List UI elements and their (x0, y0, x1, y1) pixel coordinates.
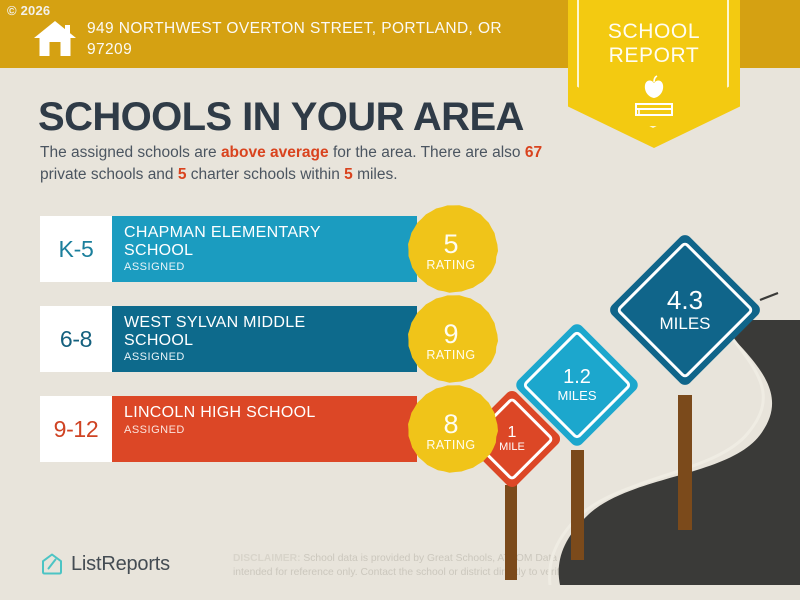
school-name-3: LINCOLN HIGH SCHOOL (124, 404, 359, 422)
subtitle-highlight-above-average: above average (221, 144, 329, 161)
subtitle-part1: The assigned schools are (40, 144, 221, 161)
school-name-1: CHAPMAN ELEMENTARY SCHOOL (124, 224, 359, 259)
school-bar-1: CHAPMAN ELEMENTARY SCHOOL ASSIGNED (112, 216, 417, 282)
apple-on-book-icon (626, 74, 682, 124)
school-row-chapman-elementary[interactable]: K-5 CHAPMAN ELEMENTARY SCHOOL ASSIGNED 5… (40, 216, 460, 282)
home-icon (32, 18, 78, 58)
grade-range-box-3: 9-12 (40, 396, 112, 462)
badge-title: SCHOOL REPORT (568, 20, 740, 68)
infographic-canvas: 4.3 MILES 1.2 MILES 1 MILE (0, 0, 800, 600)
school-bar-3: LINCOLN HIGH SCHOOL ASSIGNED (112, 396, 417, 462)
sign-value-2: 1.2 (563, 367, 591, 388)
subtitle-part3: private schools and (40, 166, 178, 183)
road-illustration: 4.3 MILES 1.2 MILES 1 MILE (460, 245, 800, 585)
rating-value-1: 5 (443, 231, 458, 257)
sign-post-2 (571, 450, 584, 560)
rating-value-2: 9 (443, 321, 458, 347)
sign-unit-1: MILE (499, 441, 525, 454)
school-row-lincoln-high[interactable]: 9-12 LINCOLN HIGH SCHOOL ASSIGNED 8 RATI… (40, 396, 460, 462)
sign-post-1 (505, 485, 517, 580)
badge-title-line2: REPORT (568, 44, 740, 68)
copyright-text: © 2026 (7, 3, 50, 18)
rating-value-3: 8 (443, 411, 458, 437)
listreports-logo-text: ListReports (71, 553, 170, 576)
sign-unit-2: MILES (557, 388, 596, 403)
subtitle-part5: miles. (353, 166, 398, 183)
school-name-2: WEST SYLVAN MIDDLE SCHOOL (124, 314, 359, 349)
school-row-west-sylvan-middle[interactable]: 6-8 WEST SYLVAN MIDDLE SCHOOL ASSIGNED 9… (40, 306, 460, 372)
school-bar-2: WEST SYLVAN MIDDLE SCHOOL ASSIGNED (112, 306, 417, 372)
school-report-badge: SCHOOL REPORT (568, 0, 740, 148)
sign-value-1: 1 (508, 424, 517, 441)
sign-unit-3: MILES (659, 314, 710, 333)
sign-post-3 (678, 395, 692, 530)
subtitle-highlight-private-count: 67 (525, 144, 542, 161)
subtitle-part2: for the area. There are also (329, 144, 525, 161)
badge-title-line1: SCHOOL (568, 20, 740, 44)
school-status-3: ASSIGNED (124, 424, 417, 436)
listreports-house-icon (40, 552, 64, 576)
disclaimer-label: DISCLAIMER: (233, 553, 301, 564)
subtitle-text: The assigned schools are above average f… (40, 142, 570, 186)
grade-range-box-1: K-5 (40, 216, 112, 282)
rating-label-1: RATING (426, 258, 475, 272)
rating-label-3: RATING (426, 438, 475, 452)
property-address: 949 NORTHWEST OVERTON STREET, PORTLAND, … (87, 18, 537, 60)
school-status-1: ASSIGNED (124, 261, 417, 273)
sign-text-3: 4.3 MILES (630, 255, 740, 365)
subtitle-highlight-radius: 5 (344, 166, 353, 183)
school-list: K-5 CHAPMAN ELEMENTARY SCHOOL ASSIGNED 5… (40, 216, 460, 486)
rating-label-2: RATING (426, 348, 475, 362)
sign-value-3: 4.3 (667, 287, 703, 314)
subtitle-part4: charter schools within (186, 166, 344, 183)
listreports-logo[interactable]: ListReports (40, 552, 170, 576)
school-status-2: ASSIGNED (124, 351, 417, 363)
road-sign-4-3-miles: 4.3 MILES (630, 255, 740, 365)
grade-range-box-2: 6-8 (40, 306, 112, 372)
page-title: SCHOOLS IN YOUR AREA (38, 95, 524, 140)
